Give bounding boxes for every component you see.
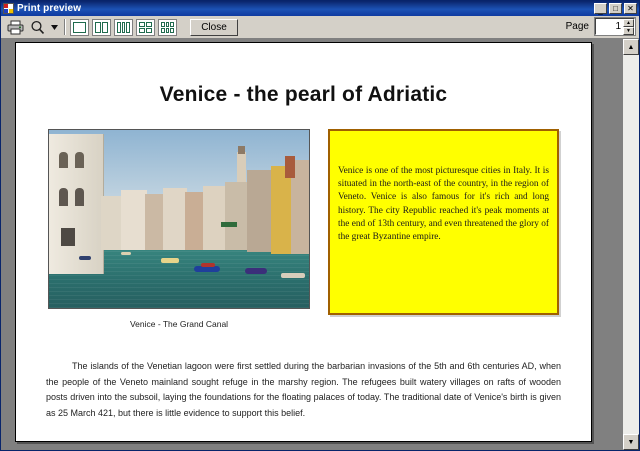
photo-building — [163, 188, 187, 250]
photo-building — [101, 196, 123, 250]
page-spinner-down[interactable]: ▼ — [623, 27, 634, 35]
photo-awning — [221, 222, 237, 227]
toolbar: Close Page 1 ▲ ▼ — [1, 16, 639, 39]
three-pages-button[interactable] — [114, 19, 133, 36]
body-text: The islands of the Venetian lagoon were … — [46, 361, 561, 418]
figure-caption: Venice - The Grand Canal — [48, 319, 310, 329]
magnifier-icon — [30, 20, 45, 35]
three-pages-icon — [117, 22, 130, 33]
window-controls: _ □ ✕ — [594, 3, 638, 14]
one-page-icon — [73, 22, 86, 33]
body-paragraph: The islands of the Venetian lagoon were … — [46, 359, 561, 421]
content-row: Venice - The Grand Canal Venice is one o… — [48, 129, 559, 329]
page-number-input[interactable]: 1 ▲ ▼ — [595, 18, 635, 35]
photo-building-red — [285, 156, 295, 178]
photo-boat — [161, 258, 179, 263]
preview-viewport[interactable]: Venice - the pearl of Adriatic — [1, 39, 622, 450]
chevron-down-icon — [51, 25, 58, 30]
photo-boat — [281, 273, 305, 278]
photo-building-yellow — [271, 166, 293, 254]
photo-building — [121, 190, 147, 250]
photo-window — [75, 152, 84, 168]
photo-boat — [79, 256, 91, 260]
vertical-scrollbar[interactable]: ▲ ▼ — [622, 39, 639, 450]
one-page-button[interactable] — [70, 19, 89, 36]
page-title: Venice - the pearl of Adriatic — [16, 83, 591, 107]
minimize-icon: _ — [595, 4, 606, 13]
four-pages-button[interactable] — [136, 19, 155, 36]
title-bar: Print preview _ □ ✕ — [1, 1, 639, 16]
scroll-down-button[interactable]: ▼ — [623, 434, 639, 450]
four-pages-icon — [139, 22, 152, 33]
photo-building — [185, 192, 205, 250]
page-label: Page — [566, 21, 589, 32]
preview-client-area: Venice - the pearl of Adriatic — [1, 39, 639, 450]
close-button[interactable]: ✕ — [624, 3, 637, 14]
photo-window — [59, 152, 68, 168]
photo-building — [225, 182, 249, 250]
close-preview-button[interactable]: Close — [190, 19, 238, 36]
close-icon: ✕ — [625, 4, 636, 13]
maximize-button[interactable]: □ — [609, 3, 622, 14]
maximize-icon: □ — [610, 4, 621, 13]
print-preview-window: Print preview _ □ ✕ — [0, 0, 640, 451]
photo-window — [61, 228, 75, 246]
six-pages-button[interactable] — [158, 19, 177, 36]
two-pages-icon — [95, 22, 108, 33]
photo-boat — [201, 263, 215, 267]
minimize-button[interactable]: _ — [594, 3, 607, 14]
zoom-dropdown-button[interactable] — [49, 18, 59, 37]
window-title: Print preview — [17, 3, 594, 14]
photo-building — [247, 170, 273, 252]
photo-boat — [245, 268, 267, 274]
six-pages-icon — [161, 22, 174, 33]
photo-boat — [121, 252, 131, 255]
page-number-value: 1 — [596, 21, 623, 32]
page-spinner-up[interactable]: ▲ — [623, 19, 634, 27]
venice-photo — [48, 129, 310, 309]
zoom-button[interactable] — [27, 18, 48, 37]
print-button[interactable] — [5, 18, 26, 37]
page-navigator: Page 1 ▲ ▼ — [566, 18, 635, 35]
callout-text: Venice is one of the most picturesque ci… — [338, 165, 549, 244]
scroll-up-button[interactable]: ▲ — [623, 39, 639, 55]
photo-building — [203, 186, 225, 250]
photo-building — [145, 194, 165, 250]
callout-box: Venice is one of the most picturesque ci… — [328, 129, 559, 315]
two-pages-button[interactable] — [92, 19, 111, 36]
photo-campanile-roof — [238, 146, 245, 154]
scroll-track[interactable] — [623, 55, 639, 434]
toolbar-separator — [64, 19, 66, 35]
figure: Venice - The Grand Canal — [48, 129, 310, 329]
app-icon — [3, 3, 14, 14]
page-spinner[interactable]: ▲ ▼ — [623, 19, 634, 34]
photo-window — [75, 188, 84, 206]
photo-window — [59, 188, 68, 206]
page-sheet: Venice - the pearl of Adriatic — [15, 42, 592, 442]
printer-icon — [7, 20, 24, 35]
